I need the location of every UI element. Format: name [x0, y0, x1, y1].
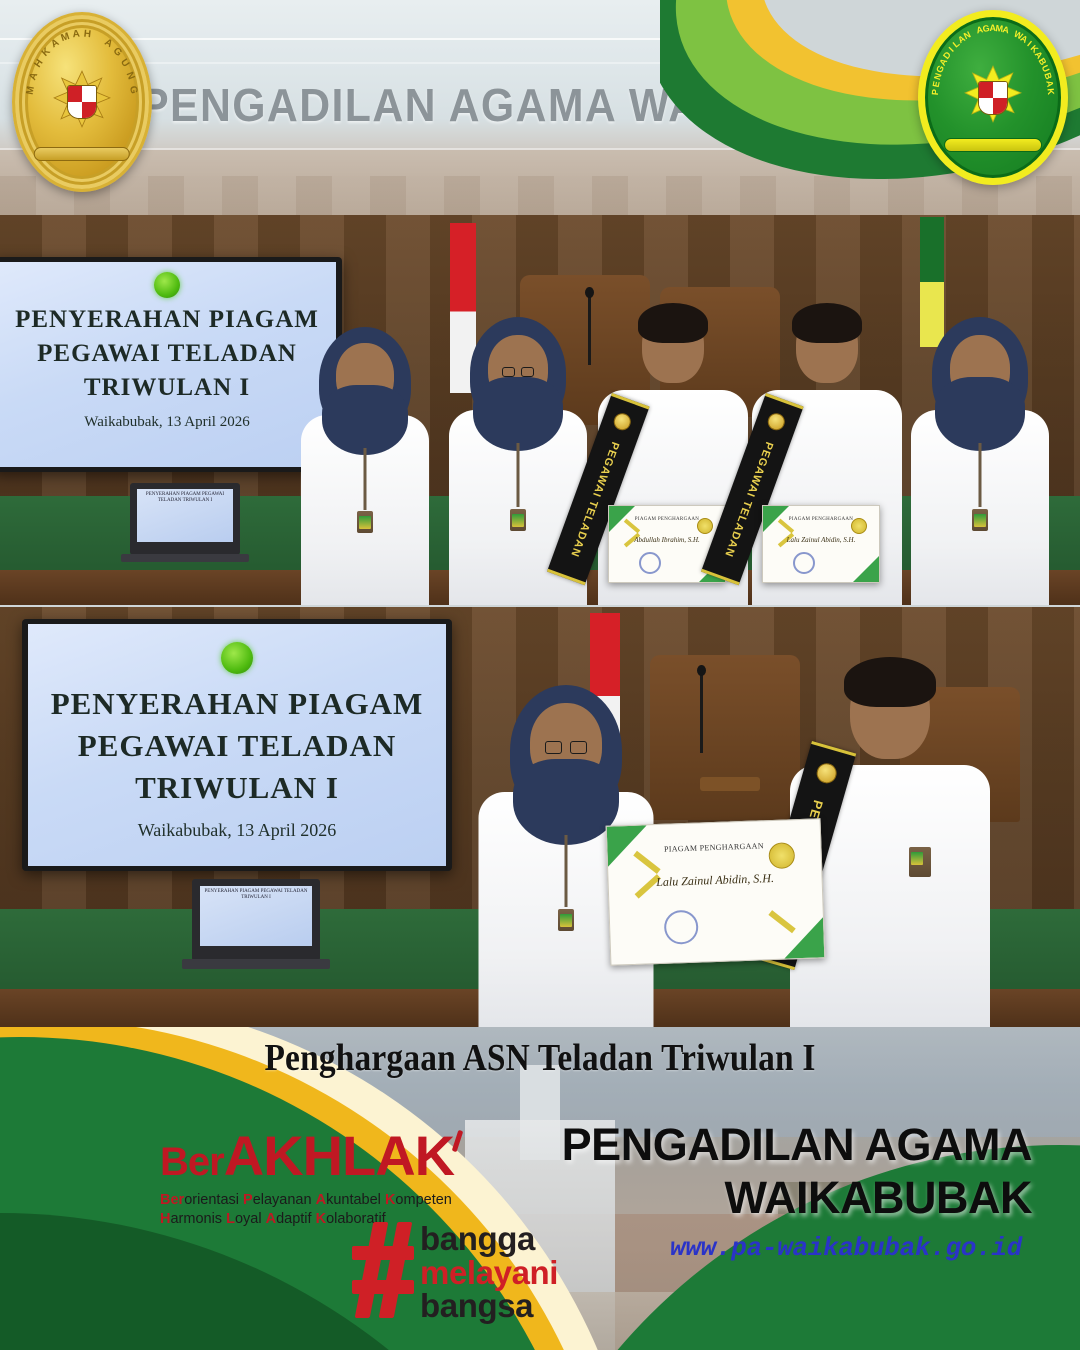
certificate-name: Lalu Zainul Abidin, S.H. [608, 869, 821, 891]
certificate-name: Lalu Zainul Abidin, S.H. [763, 536, 879, 544]
office-name-block: PENGADILAN AGAMA WAIKABUBAK [552, 1118, 1032, 1224]
berakhlak-logo: BerAKHLAK Berorientasi Pelayanan Akuntab… [160, 1128, 454, 1229]
hashtag-word-2: melayani [420, 1256, 558, 1290]
person-staff-1 [300, 305, 430, 605]
berakhlak-wordmark: BerAKHLAK [160, 1128, 454, 1184]
laptop-screen-text: PENYERAHAN PIAGAM PEGAWAI TELADAN TRIWUL… [200, 886, 313, 947]
presentation-screen-large: PENYERAHAN PIAGAM PEGAWAI TELADAN TRIWUL… [22, 619, 452, 871]
hashtag-word-1: bangga [420, 1222, 558, 1256]
presentation-screen: PENYERAHAN PIAGAM PEGAWAI TELADAN TRIWUL… [0, 257, 342, 472]
slide-line1: PENYERAHAN PIAGAM [0, 306, 336, 334]
hashtag-word-3: bangsa [420, 1289, 558, 1323]
photo-certificate-handover: PENYERAHAN PIAGAM PEGAWAI TELADAN TRIWUL… [0, 607, 1080, 1027]
slide-date: Waikabubak, 13 April 2026 [28, 820, 446, 841]
laptop-display: PENYERAHAN PIAGAM PEGAWAI TELADAN TRIWUL… [192, 879, 320, 961]
person-awardee-2: PEGAWAI TELADAN PIAGAM PENGHARGAAN Lalu … [752, 275, 902, 605]
coat-of-arms-shield-icon-green [978, 81, 1008, 115]
berakhlak-prefix: Ber [160, 1140, 224, 1184]
pengadilan-agama-seal-icon: PENGADILAN AGAMA WAIKABUBAK [918, 10, 1068, 185]
certificate-large: PIAGAM PENGHARGAAN Lalu Zainul Abidin, S… [606, 818, 826, 965]
eyeglasses-icon [545, 741, 587, 755]
hashtag-icon [352, 1222, 414, 1318]
bangga-melayani-bangsa-logo: bangga melayani bangsa [352, 1222, 558, 1323]
berakhlak-tagline-line1: Berorientasi Pelayanan Akuntabel Kompete… [160, 1191, 454, 1210]
slide-line2: PEGAWAI TELADAN [28, 728, 446, 764]
slide-line3: TRIWULAN I [0, 374, 336, 402]
certificate-name: Abdullah Ibrahim, S.H. [609, 536, 725, 544]
website-url[interactable]: www.pa-waikabubak.go.id [542, 1233, 1022, 1263]
slide-line1: PENYERAHAN PIAGAM [28, 686, 446, 722]
mahkamah-agung-seal-icon: MAHKAMAH AGUNG [12, 12, 152, 192]
office-name-line1: PENGADILAN AGAMA [552, 1118, 1032, 1171]
slide-date: Waikabubak, 13 April 2026 [0, 414, 336, 431]
poster-canvas: PENGADILAN AGAMA WAIKABUBAK MAHKAMAH AGU… [0, 0, 1080, 1350]
building-sign-text: PENGADILAN AGAMA WAIKABUBAK [38, 78, 1042, 132]
photo-group-award: PENYERAHAN PIAGAM PEGAWAI TELADAN TRIWUL… [0, 215, 1080, 605]
coat-of-arms-shield-icon [67, 85, 97, 119]
slide-line2: PEGAWAI TELADAN [0, 340, 336, 368]
berakhlak-main: AKHLAK [224, 1124, 454, 1187]
poster-title: Penghargaan ASN Teladan Triwulan I [65, 1036, 1015, 1080]
person-staff-3 [910, 295, 1050, 605]
certificate-2: PIAGAM PENGHARGAAN Lalu Zainul Abidin, S… [762, 505, 880, 583]
laptop-display: PENYERAHAN PIAGAM PEGAWAI TELADAN TRIWUL… [130, 483, 240, 555]
slide-line3: TRIWULAN I [28, 770, 446, 806]
office-name-line2: WAIKABUBAK [552, 1171, 1032, 1224]
laptop-screen-text: PENYERAHAN PIAGAM PEGAWAI TELADAN TRIWUL… [137, 489, 234, 542]
